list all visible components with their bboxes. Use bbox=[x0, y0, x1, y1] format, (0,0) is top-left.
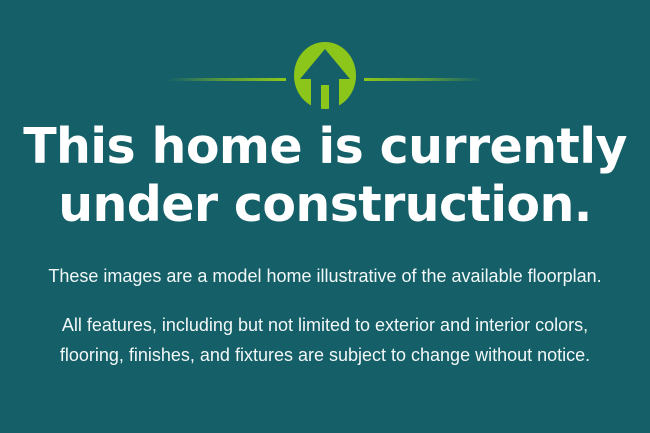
brand-band bbox=[0, 0, 650, 118]
model-home-disclaimer: These images are a model home illustrati… bbox=[0, 261, 650, 291]
construction-notice-card: This home is currently under constructio… bbox=[0, 0, 650, 433]
headline-line-2: under construction. bbox=[10, 176, 640, 234]
headline-line-1: This home is currently bbox=[10, 118, 640, 176]
divider-rule-right-icon bbox=[364, 78, 482, 81]
page-title: This home is currently under constructio… bbox=[0, 118, 650, 234]
legal-disclaimer-line-2: flooring, finishes, and fixtures are sub… bbox=[12, 340, 638, 370]
disclaimer-block: These images are a model home illustrati… bbox=[0, 261, 650, 370]
legal-disclaimer-line-1: All features, including but not limited … bbox=[12, 310, 638, 340]
legal-disclaimer: All features, including but not limited … bbox=[0, 310, 650, 370]
house-arrow-logo-icon bbox=[293, 41, 357, 111]
divider-rule-left-icon bbox=[168, 78, 286, 81]
